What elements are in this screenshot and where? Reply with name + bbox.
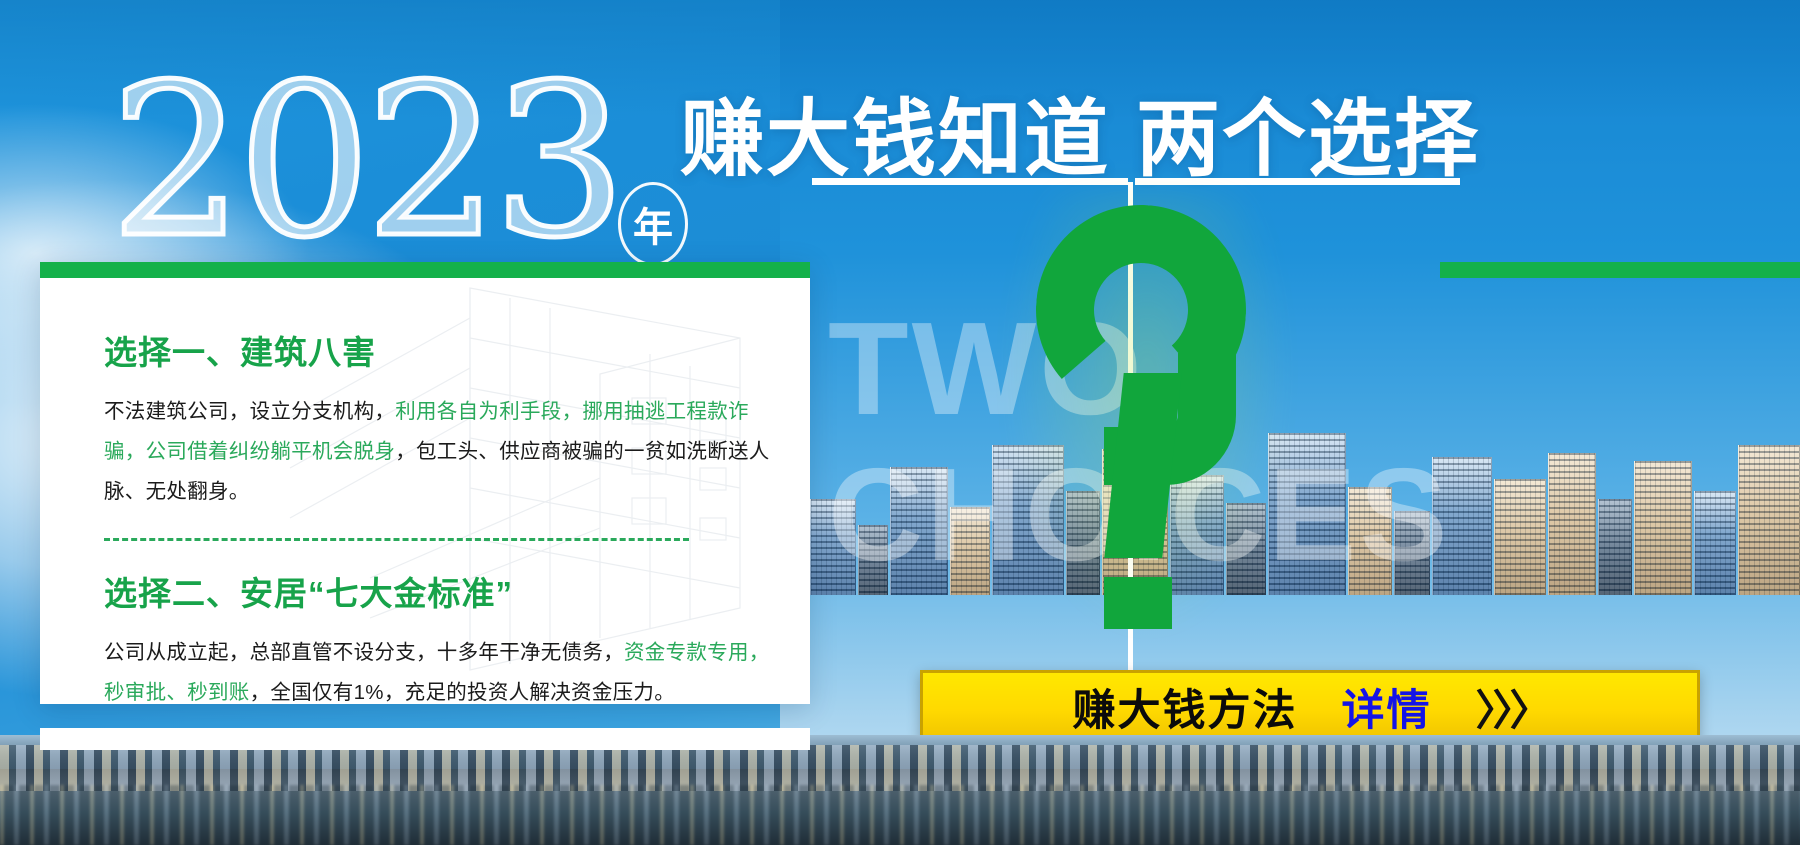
section-2-title: 选择二、安居“七大金标准” [104, 567, 780, 615]
headline-rule-right [1135, 178, 1460, 185]
section-2-text-a: 公司从成立起，总部直管不设分支，十多年干净无债务， [104, 641, 624, 664]
poster-root: 2023 2023 年 赚大钱知道两个选择 TWO CHOICES [0, 0, 1800, 845]
cta-button[interactable]: 赚大钱方法 详情 〉〉〉 [920, 670, 1700, 744]
content-card: 选择一、建筑八害 不法建筑公司，设立分支机构，利用各自为利手段，挪用抽逃工程款诈… [40, 262, 810, 704]
section-2-body: 公司从成立起，总部直管不设分支，十多年干净无债务，资金专款专用，秒审批、秒到账，… [104, 633, 780, 713]
bottom-strip-reflection [0, 785, 1800, 845]
card-top-green-bar [40, 262, 810, 278]
section-divider [104, 538, 689, 541]
section-1-title: 选择一、建筑八害 [104, 326, 780, 374]
page-title: 赚大钱知道两个选择 [680, 72, 1480, 193]
headline-right: 两个选择 [1136, 92, 1480, 186]
question-mark-icon [1018, 205, 1276, 625]
card-base-extension [40, 728, 810, 750]
cta-more-label: 详情 [1341, 676, 1431, 738]
section-1-text-a: 不法建筑公司，设立分支机构， [104, 400, 395, 423]
cta-main-label: 赚大钱方法 [1072, 676, 1297, 738]
headline-rule-left [812, 178, 1128, 185]
headline-left: 赚大钱知道 [680, 92, 1110, 186]
bottom-photo-strip [0, 735, 1800, 845]
section-1-body: 不法建筑公司，设立分支机构，利用各自为利手段，挪用抽逃工程款诈骗，公司借着纠纷躺… [104, 392, 780, 512]
section-2-text-b: ，全国仅有1%，充足的投资人解决资金压力。 [250, 681, 675, 704]
question-mark-dot [1104, 577, 1172, 629]
chevron-right-icon: 〉〉〉 [1475, 677, 1547, 738]
green-accent-bar [1440, 262, 1800, 278]
